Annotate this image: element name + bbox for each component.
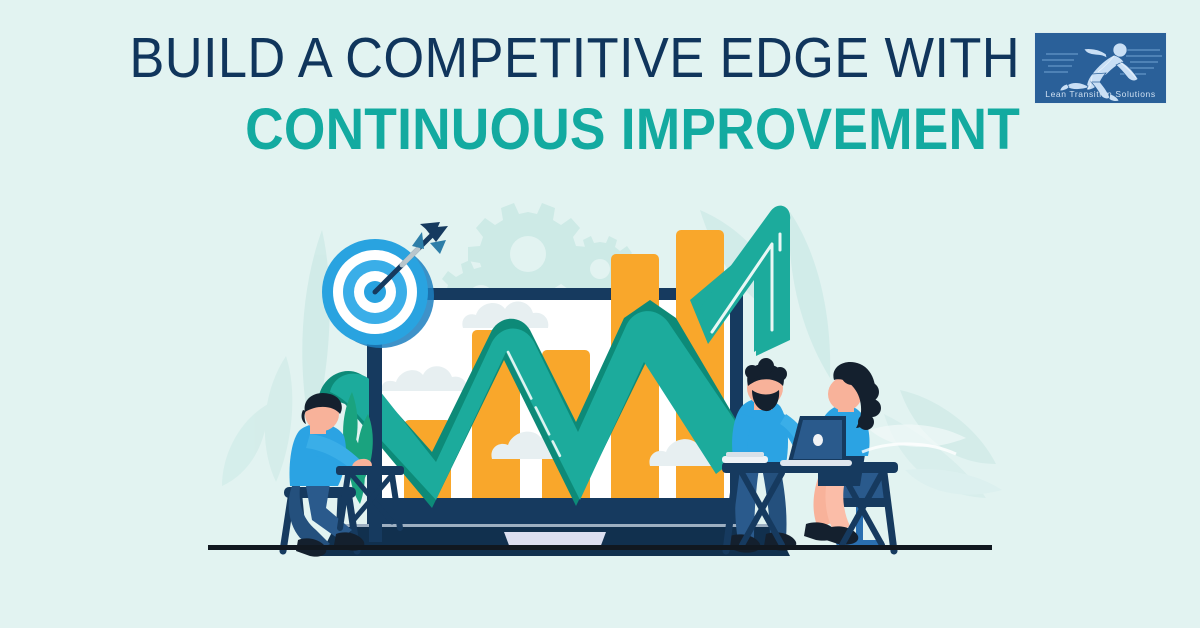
desk-papers [722,452,768,463]
headline-line-1: BUILD A COMPETITIVE EDGE WITH [82,30,1020,87]
bar-4-overflow [611,254,659,304]
headline-block: BUILD A COMPETITIVE EDGE WITH CONTINUOUS… [0,30,1020,159]
company-logo[interactable]: Lean Transition Solutions [1034,32,1167,104]
laptop-logo [813,434,823,446]
logo-caption: Lean Transition Solutions [1034,89,1167,99]
ground-line [208,545,992,550]
headline-line-2: CONTINUOUS IMPROVEMENT [82,101,1020,159]
promotional-banner: BUILD A COMPETITIVE EDGE WITH CONTINUOUS… [0,0,1200,628]
